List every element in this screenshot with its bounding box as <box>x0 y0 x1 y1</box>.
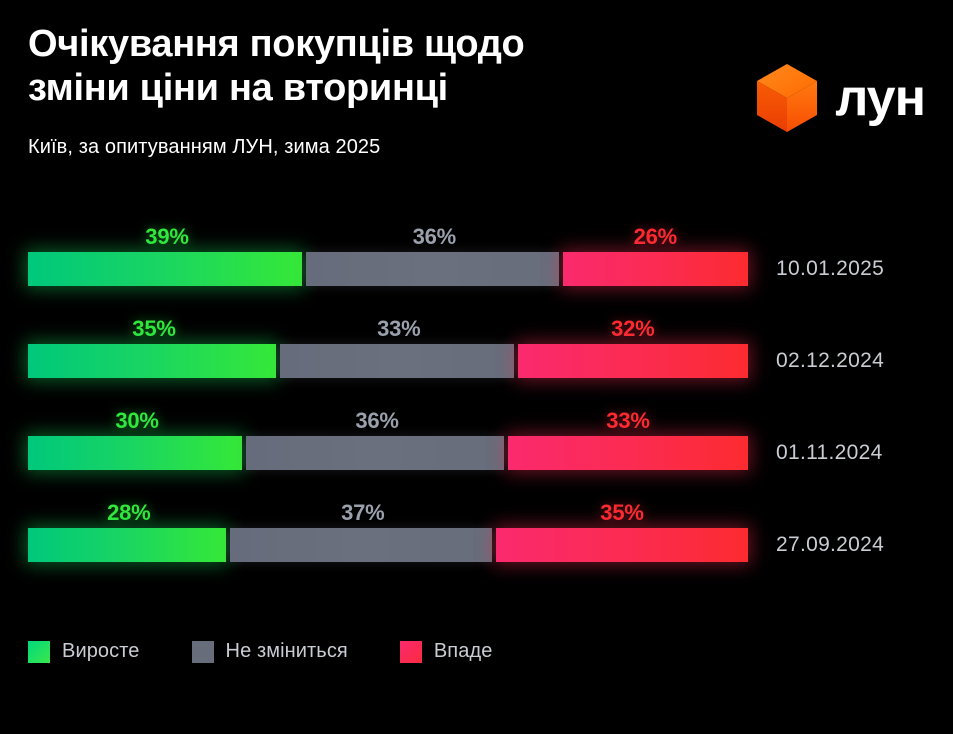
segment-label-group: 39%36%26% <box>28 222 748 252</box>
segment-label-group: 30%36%33% <box>28 406 748 436</box>
chart-row: 30%36%33%01.11.2024 <box>0 406 953 498</box>
legend-item-down[interactable]: Впаде <box>400 640 493 663</box>
segment-value-down: 26% <box>634 222 677 252</box>
segment-value-up: 35% <box>132 314 175 344</box>
bar-segment-down <box>563 252 748 286</box>
chart-row: 39%36%26%10.01.2025 <box>0 222 953 314</box>
segment-value-same: 36% <box>413 222 456 252</box>
row-date-label: 01.11.2024 <box>776 436 883 470</box>
segment-value-up: 28% <box>107 498 150 528</box>
segment-value-same: 36% <box>355 406 398 436</box>
chart-row: 35%33%32%02.12.2024 <box>0 314 953 406</box>
segment-value-up: 30% <box>115 406 158 436</box>
segment-value-down: 32% <box>611 314 654 344</box>
segment-value-same: 37% <box>341 498 384 528</box>
bar-segment-down <box>508 436 748 470</box>
bar-segment-same <box>306 252 559 286</box>
infographic-canvas: Очікування покупців щодо зміни ціни на в… <box>0 0 953 734</box>
stacked-bar-chart: 39%36%26%10.01.202535%33%32%02.12.202430… <box>0 222 953 590</box>
red-square-swatch <box>400 641 422 663</box>
segment-value-same: 33% <box>377 314 420 344</box>
segment-value-up: 39% <box>145 222 188 252</box>
legend-item-up[interactable]: Виросте <box>28 640 140 663</box>
orange-cube-icon <box>755 62 819 134</box>
brand-logo: лун <box>755 62 925 134</box>
legend-label: Виросте <box>62 640 140 663</box>
bar-segment-same <box>246 436 504 470</box>
green-square-swatch <box>28 641 50 663</box>
bar-segment-same <box>230 528 492 562</box>
bar-track <box>28 436 748 470</box>
bar-segment-up <box>28 252 302 286</box>
segment-label-group: 28%37%35% <box>28 498 748 528</box>
legend-item-same[interactable]: Не зміниться <box>192 640 348 663</box>
page-subtitle: Київ, за опитуванням ЛУН, зима 2025 <box>28 136 928 159</box>
legend-label: Впаде <box>434 640 493 663</box>
row-date-label: 27.09.2024 <box>776 528 884 562</box>
bar-track <box>28 252 748 286</box>
bar-segment-up <box>28 528 226 562</box>
gray-square-swatch <box>192 641 214 663</box>
logo-wordmark: лун <box>835 72 925 124</box>
bar-track <box>28 344 748 378</box>
row-date-label: 10.01.2025 <box>776 252 884 286</box>
bar-segment-same <box>280 344 514 378</box>
chart-legend: ВиростеНе змінитьсяВпаде <box>28 640 492 663</box>
segment-value-down: 35% <box>600 498 643 528</box>
bar-track <box>28 528 748 562</box>
page-title: Очікування покупців щодо зміни ціни на в… <box>28 22 668 110</box>
bar-segment-up <box>28 344 276 378</box>
bar-segment-down <box>518 344 748 378</box>
segment-value-down: 33% <box>606 406 649 436</box>
row-date-label: 02.12.2024 <box>776 344 884 378</box>
legend-label: Не зміниться <box>226 640 348 663</box>
bar-segment-up <box>28 436 242 470</box>
segment-label-group: 35%33%32% <box>28 314 748 344</box>
chart-row: 28%37%35%27.09.2024 <box>0 498 953 590</box>
bar-segment-down <box>496 528 748 562</box>
